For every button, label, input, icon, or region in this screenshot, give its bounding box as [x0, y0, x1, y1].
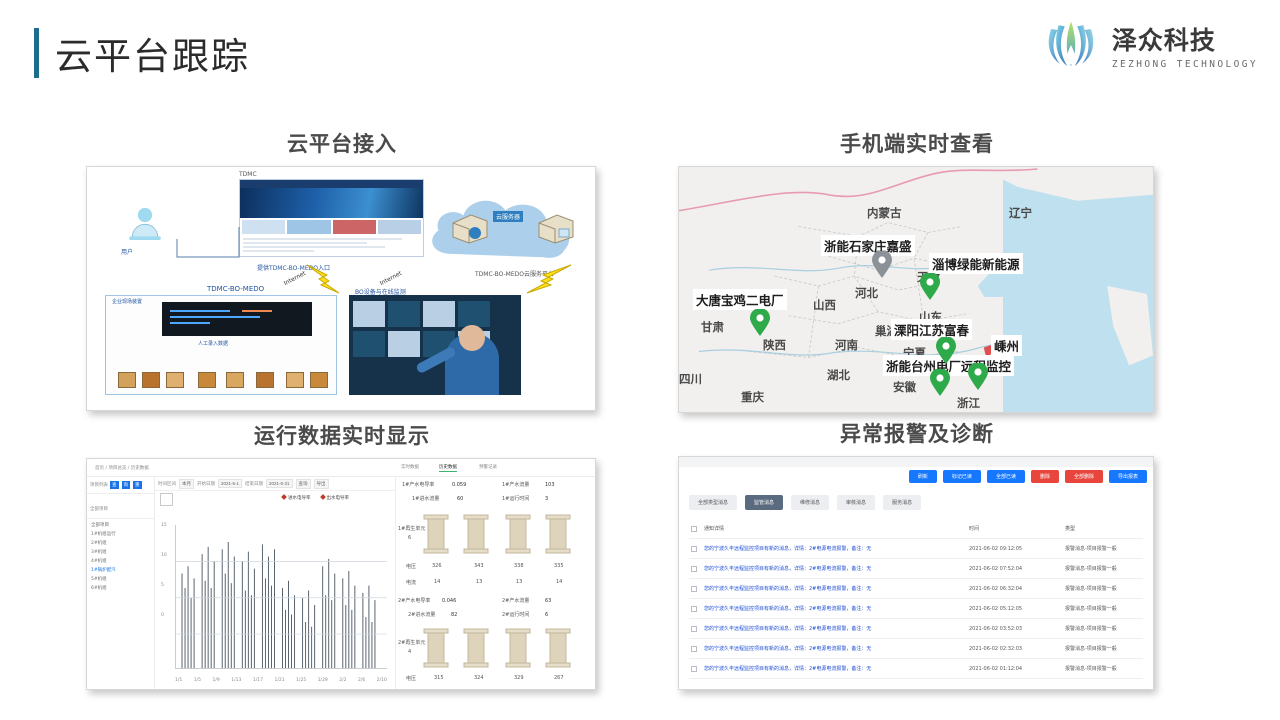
search-chip-0[interactable]: 查	[110, 481, 119, 489]
province-label-hubei: 湖北	[827, 367, 850, 383]
cloud-tag-label: 云服务器	[493, 211, 523, 222]
x-tick-4: 1/17	[253, 678, 263, 683]
metric-label-1: 1#产水流量	[502, 482, 529, 488]
process-diagram-panel: 企业现场装置 人工录入数据	[105, 295, 337, 395]
coil-icon-1-4	[544, 513, 572, 555]
internet-label-2: Internet	[379, 270, 403, 287]
table-row[interactable]: 您的宁波久丰远程监控项目有新的消息，详情：2#电源电流报警，备注：无 2021-…	[689, 639, 1143, 659]
logo-company-name-en: ZEZHONG TECHNOLOGY	[1112, 59, 1258, 70]
x-tick-8: 2/2	[339, 678, 346, 683]
user-label: 用户	[121, 247, 133, 256]
map-pin-online-2[interactable]	[749, 309, 771, 337]
province-label-sichuan: 四川	[679, 371, 702, 387]
table-row[interactable]: 您的宁波久丰远程监控项目有新的消息，详情：2#电源电流报警，备注：无 2021-…	[689, 659, 1143, 679]
unit1-row1-v1: 13	[476, 579, 482, 585]
metric-label-5: 2#产水流量	[502, 598, 529, 604]
site-label-shengzhou[interactable]: 嵊州	[991, 335, 1022, 356]
unit1-row0-v3: 335	[554, 563, 564, 569]
select-all-checkbox[interactable]	[691, 526, 697, 532]
alarm-category-tabs[interactable]: 全部类型消息 监管消息 维修消息 审核消息 服务消息	[689, 495, 921, 510]
title-accent-bar	[34, 28, 39, 78]
alarm-screenshot[interactable]: 刷新 标记已读 全部已读 删除 全部删除 导出报表 全部类型消息 监管消息 维修…	[678, 456, 1154, 690]
row-detail[interactable]: 您的宁波久丰远程监控项目有新的消息，详情：2#电源电流报警，备注：无	[704, 545, 969, 552]
unit2-row0-label: 电压	[406, 675, 416, 682]
metric-label-0: 1#产水电导率	[402, 482, 434, 488]
province-label-neimenggu: 内蒙古	[867, 205, 902, 221]
chart-tools-icon[interactable]	[374, 513, 390, 521]
site-label-shijiazhuang[interactable]: 浙能石家庄嘉盛	[821, 235, 915, 256]
panel-running-data-title: 运行数据实时显示	[86, 420, 598, 450]
x-tick-3: 1/13	[231, 678, 241, 683]
unit2-row0-v0: 315	[434, 675, 444, 681]
row-checkbox[interactable]	[691, 606, 697, 612]
toolbar-query-button[interactable]: 查询	[296, 479, 311, 489]
row-checkbox[interactable]	[691, 566, 697, 572]
row-time: 2021-06-02 07:52:04	[969, 566, 1065, 572]
chart-canvas: 进水电导率 出水电导率	[155, 491, 395, 689]
mark-all-read-button[interactable]: 全部已读	[987, 470, 1025, 483]
metric-label-7: 2#运行时间	[502, 612, 529, 618]
province-label-henan: 河南	[835, 337, 858, 353]
brand-logo: 泽众科技 ZEZHONG TECHNOLOGY	[1040, 14, 1258, 76]
tab-history[interactable]: 历史数据	[439, 464, 457, 472]
x-axis-ticks: 1/1 1/5 1/9 1/13 1/17 1/21 1/25 1/29 2/2…	[175, 678, 387, 683]
tree-node-1[interactable]: 1#机组运行	[91, 531, 154, 537]
panel-mobile-realtime-title: 手机端实时查看	[678, 128, 1156, 158]
y-tick-3: 0	[161, 613, 164, 618]
province-label-anhui: 安徽	[893, 379, 916, 395]
legend-item-1[interactable]: 出水电导率	[321, 495, 350, 501]
metric-value-6: 82	[451, 612, 457, 618]
unit1-row0-v2: 338	[514, 563, 524, 569]
row-detail[interactable]: 您的宁波久丰远程监控项目有新的消息，详情：2#电源电流报警，备注：无	[704, 625, 969, 632]
toolbar-label-end: 结束日期	[245, 481, 263, 487]
row-detail[interactable]: 您的宁波久丰远程监控项目有新的消息，详情：2#电源电流报警，备注：无	[704, 665, 969, 672]
map-pin-online-5[interactable]	[967, 363, 989, 391]
site-label-liyang[interactable]: 溧阳江苏富春	[891, 319, 972, 340]
metric-label-3: 1#运行时间	[502, 496, 529, 502]
row-type: 报警消息-项目报警一般	[1065, 545, 1143, 552]
unit1-row1-v0: 14	[434, 579, 440, 585]
unit1-row0-v1: 343	[474, 563, 484, 569]
table-row[interactable]: 您的宁波久丰远程监控项目有新的消息，详情：2#电源电流报警，备注：无 2021-…	[689, 599, 1143, 619]
map-canvas[interactable]: 内蒙古 辽宁 河北 山西 甘肃 陕西 河南 湖北 重庆 四川 山东 天津 宁夏 …	[679, 167, 1153, 412]
province-label-shanxi: 山西	[813, 297, 836, 313]
tree-node-0[interactable]: 全部项目	[91, 522, 154, 528]
process-sub-label: 人工录入数据	[198, 340, 228, 347]
panel-cloud-access-title: 云平台接入	[86, 128, 598, 158]
cloud-access-screenshot: 用户 TDMC 提供TDMC-BO-MEDO入口 云服务器 TDMC-BO-	[86, 166, 596, 411]
map-pin-online-4[interactable]	[929, 369, 951, 397]
toolbar-start-date[interactable]: 2021-5-1	[218, 479, 242, 488]
unit2-row0-v2: 329	[514, 675, 524, 681]
coil-icon-2-4	[544, 627, 572, 669]
table-row[interactable]: 您的宁波久丰远程监控项目有新的消息，详情：2#电源电流报警，备注：无 2021-…	[689, 619, 1143, 639]
coil-icon-2-2	[462, 627, 490, 669]
unit2-row1-v0: 13	[436, 689, 442, 690]
lightning-bolt-icon-2	[503, 263, 573, 297]
province-label-gansu: 甘肃	[701, 319, 724, 335]
column-header-type: 类型	[1065, 525, 1143, 532]
tree-node-6[interactable]: 5#机组	[91, 576, 154, 582]
unit1-value: 6	[408, 535, 411, 541]
metric-value-5: 63	[545, 598, 551, 604]
tab-audit-messages[interactable]: 审核消息	[837, 495, 875, 510]
x-tick-10: 2/10	[377, 678, 387, 683]
panel-mobile-realtime: 手机端实时查看	[678, 128, 1156, 413]
breadcrumb: 首页 / 项目总览 / 历史数据	[95, 465, 149, 471]
process-screen	[162, 302, 312, 336]
cloud-server-icon-2	[535, 211, 577, 245]
search-chip-2[interactable]: 重	[133, 481, 142, 489]
unit2-value: 4	[408, 649, 411, 655]
refresh-button[interactable]: 刷新	[909, 470, 937, 483]
unit2-row1-v3: 14	[556, 689, 562, 690]
mark-read-button[interactable]: 标记已读	[943, 470, 981, 483]
tree-node-4[interactable]: 4#机组	[91, 558, 154, 564]
row-time: 2021-06-02 06:32:04	[969, 586, 1065, 592]
row-checkbox[interactable]	[691, 646, 697, 652]
unit1-row0-label: 电压	[406, 563, 416, 570]
row-type: 报警消息-项目报警一般	[1065, 665, 1143, 672]
metric-value-0: 0.059	[452, 482, 466, 488]
cloud-server-icon-1	[449, 211, 491, 245]
search-chip-1[interactable]: 询	[122, 481, 131, 489]
plant-label: BO设备与在线监测	[355, 287, 406, 296]
delete-all-button[interactable]: 全部删除	[1065, 470, 1103, 483]
tab-all-messages[interactable]: 全部类型消息	[689, 495, 737, 510]
process-label: 企业现场装置	[112, 298, 142, 305]
tab-maintenance-messages[interactable]: 维修消息	[791, 495, 829, 510]
row-type: 报警消息-项目报警一般	[1065, 565, 1143, 572]
table-header-row: 通知详情 时间 类型	[689, 519, 1143, 539]
coil-icon-1-3	[504, 513, 532, 555]
tree-node-3[interactable]: 3#机组	[91, 549, 154, 555]
toolbar-select-month[interactable]: 本月	[179, 479, 194, 489]
row-time: 2021-06-02 02:32:03	[969, 646, 1065, 652]
tab-supervision-messages[interactable]: 监管消息	[745, 495, 783, 510]
x-tick-6: 1/25	[296, 678, 306, 683]
row-type: 报警消息-项目报警一般	[1065, 625, 1143, 632]
row-type: 报警消息-项目报警一般	[1065, 605, 1143, 612]
legend-item-0[interactable]: 进水电导率	[282, 495, 311, 501]
metric-value-7: 6	[545, 612, 548, 618]
metric-value-2: 60	[457, 496, 463, 502]
metric-label-6: 2#进水流量	[408, 612, 435, 618]
row-checkbox[interactable]	[691, 666, 697, 672]
unit1-row1-v2: 13	[516, 579, 522, 585]
unit2-row1-v1: 11	[476, 689, 482, 690]
row-detail[interactable]: 您的宁波久丰远程监控项目有新的消息，详情：2#电源电流报警，备注：无	[704, 605, 969, 612]
tree-node-2[interactable]: 2#机组	[91, 540, 154, 546]
column-header-detail: 通知详情	[704, 525, 969, 532]
toolbar-label-start: 开始日期	[197, 481, 215, 487]
slide-title-text: 云平台跟踪	[55, 26, 250, 80]
tab-realtime[interactable]: 实时数据	[401, 464, 419, 470]
browser-caption: TDMC	[239, 171, 257, 178]
metric-label-2: 1#进水流量	[412, 496, 439, 502]
x-tick-0: 1/1	[175, 678, 182, 683]
running-data-topbar: 首页 / 项目总览 / 历史数据 实时数据 历史数据 预警记录	[87, 459, 595, 477]
project-tree-sidebar[interactable]: 项目列表 查 询 重 全部项目 全部项目 1#机组运行 2#机组 3#机组 4#…	[87, 477, 155, 689]
coil-icon-1-1	[422, 513, 450, 555]
page-title: 云平台跟踪	[34, 26, 250, 80]
control-room-photo	[349, 295, 521, 395]
logo-company-name-cn: 泽众科技	[1112, 21, 1258, 57]
column-header-time: 时间	[969, 525, 1065, 532]
coil-icon-1-2	[462, 513, 490, 555]
row-checkbox[interactable]	[691, 546, 697, 552]
map-pin-online-1[interactable]	[919, 273, 941, 301]
row-time: 2021-06-02 03:52:03	[969, 626, 1065, 632]
site-label-zibo[interactable]: 淄博绿能新能源	[929, 253, 1023, 274]
y-tick-0: 15	[161, 523, 167, 528]
unit1-row0-v0: 326	[432, 563, 442, 569]
site-label-baoji[interactable]: 大唐宝鸡二电厂	[693, 289, 787, 310]
province-label-shaanxi: 陕西	[763, 337, 786, 353]
row-checkbox[interactable]	[691, 626, 697, 632]
legend-marker-1	[320, 494, 326, 500]
history-chart-area[interactable]: 时间区间 本月 开始日期 2021-5-1 结束日期 2021-5-31 查询 …	[155, 477, 395, 689]
map-pin-offline[interactable]	[871, 251, 893, 279]
panel-cloud-access: 云平台接入 用户 TDMC 提供TDMC-BO-MEDO入口	[86, 128, 598, 411]
tree-node-5-selected[interactable]: 1#锅炉配汽	[91, 567, 154, 573]
chart-fullscreen-icon[interactable]	[160, 493, 173, 506]
export-report-button[interactable]: 导出报表	[1109, 470, 1147, 483]
metric-label-4: 2#产水电导率	[398, 598, 430, 604]
toolbar-export-button[interactable]: 导出	[314, 479, 329, 489]
unit2-row0-v3: 267	[554, 675, 564, 681]
y-tick-1: 10	[161, 553, 167, 558]
running-data-screenshot[interactable]: 首页 / 项目总览 / 历史数据 实时数据 历史数据 预警记录 项目列表 查 询…	[86, 458, 596, 690]
row-type: 报警消息-项目报警一般	[1065, 645, 1143, 652]
tree-title: 项目列表	[90, 482, 108, 488]
toolbar-label-range: 时间区间	[158, 481, 176, 487]
unit2-row1-label: 电流	[406, 689, 416, 690]
x-tick-2: 1/9	[213, 678, 220, 683]
table-row[interactable]: 您的宁波久丰远程监控项目有新的消息，详情：2#电源电流报警，备注：无 2021-…	[689, 579, 1143, 599]
chart-toolbar[interactable]: 时间区间 本月 开始日期 2021-5-1 结束日期 2021-5-31 查询 …	[155, 477, 395, 491]
unit2-row0-v1: 324	[474, 675, 484, 681]
table-row[interactable]: 您的宁波久丰远程监控项目有新的消息，详情：2#电源电流报警，备注：无 2021-…	[689, 539, 1143, 559]
row-detail[interactable]: 您的宁波久丰远程监控项目有新的消息，详情：2#电源电流报警，备注：无	[704, 645, 969, 652]
row-time: 2021-06-02 01:12:04	[969, 666, 1065, 672]
delete-button[interactable]: 删除	[1031, 470, 1059, 483]
internet-label-1: Internet	[283, 270, 307, 287]
province-label-liaoning: 辽宁	[1009, 205, 1032, 221]
panel-alarm-diagnosis: 异常报警及诊断 刷新 标记已读 全部已读 删除 全部删除 导出报表 全部类型消息…	[678, 418, 1156, 690]
tab-warning[interactable]: 预警记录	[479, 464, 497, 470]
row-checkbox[interactable]	[691, 586, 697, 592]
x-tick-1: 1/5	[194, 678, 201, 683]
user-icon	[123, 205, 167, 245]
browser-mockup	[239, 179, 424, 257]
unit1-row1-v3: 14	[556, 579, 562, 585]
chart-series-dense-bars	[176, 525, 387, 668]
map-screenshot[interactable]: 内蒙古 辽宁 河北 山西 甘肃 陕西 河南 湖北 重庆 四川 山东 天津 宁夏 …	[678, 166, 1154, 413]
table-row[interactable]: 您的宁波久丰远程监控项目有新的消息，详情：2#电源电流报警，备注：无 2021-…	[689, 559, 1143, 579]
tree-node-7[interactable]: 6#机组	[91, 585, 154, 591]
metric-value-3: 3	[545, 496, 548, 502]
map-pin-online-3[interactable]	[935, 337, 957, 365]
row-time: 2021-06-02 09:12:05	[969, 546, 1065, 552]
row-detail[interactable]: 您的宁波久丰远程监控项目有新的消息，详情：2#电源电流报警，备注：无	[704, 565, 969, 572]
unit1-row1-label: 电流	[406, 579, 416, 586]
metrics-panel: 1#产水电导率 0.059 1#产水流量 103 1#进水流量 60 1#运行时…	[395, 477, 595, 689]
row-time: 2021-06-02 05:12:05	[969, 606, 1065, 612]
panel-alarm-diagnosis-title: 异常报警及诊断	[678, 418, 1156, 448]
panel-running-data: 运行数据实时显示 首页 / 项目总览 / 历史数据 实时数据 历史数据 预警记录…	[86, 420, 598, 690]
alarm-table[interactable]: 通知详情 时间 类型 您的宁波久丰远程监控项目有新的消息，详情：2#电源电流报警…	[689, 519, 1143, 679]
tree-filter-label[interactable]: 全部项目	[90, 507, 108, 512]
coil-icon-2-3	[504, 627, 532, 669]
province-label-chongqing: 重庆	[741, 389, 764, 405]
lotus-petal-logo-icon	[1040, 14, 1102, 76]
row-type: 报警消息-项目报警一般	[1065, 585, 1143, 592]
alarm-action-buttons[interactable]: 刷新 标记已读 全部已读 删除 全部删除 导出报表	[909, 470, 1147, 483]
province-label-hebei: 河北	[855, 285, 878, 301]
province-label-zhejiang: 浙江	[957, 395, 980, 411]
connector-user-browser	[173, 219, 243, 261]
coil-icon-2-1	[422, 627, 450, 669]
alarm-topbar	[679, 457, 1153, 467]
platform-label: TDMC-BO-MEDO	[207, 285, 264, 293]
legend-marker-0	[281, 494, 287, 500]
toolbar-end-date[interactable]: 2021-5-31	[266, 479, 293, 488]
unit2-row1-v2: 13	[516, 689, 522, 690]
row-detail[interactable]: 您的宁波久丰远程监控项目有新的消息，详情：2#电源电流报警，备注：无	[704, 585, 969, 592]
x-tick-5: 1/21	[274, 678, 284, 683]
x-tick-9: 2/6	[358, 678, 365, 683]
chart-axes	[175, 525, 387, 669]
metric-value-4: 0.046	[442, 598, 456, 604]
lightning-bolt-icon-1	[305, 263, 353, 297]
x-tick-7: 1/29	[318, 678, 328, 683]
metric-value-1: 103	[545, 482, 555, 488]
y-tick-2: 5	[161, 583, 164, 588]
tab-service-messages[interactable]: 服务消息	[883, 495, 921, 510]
